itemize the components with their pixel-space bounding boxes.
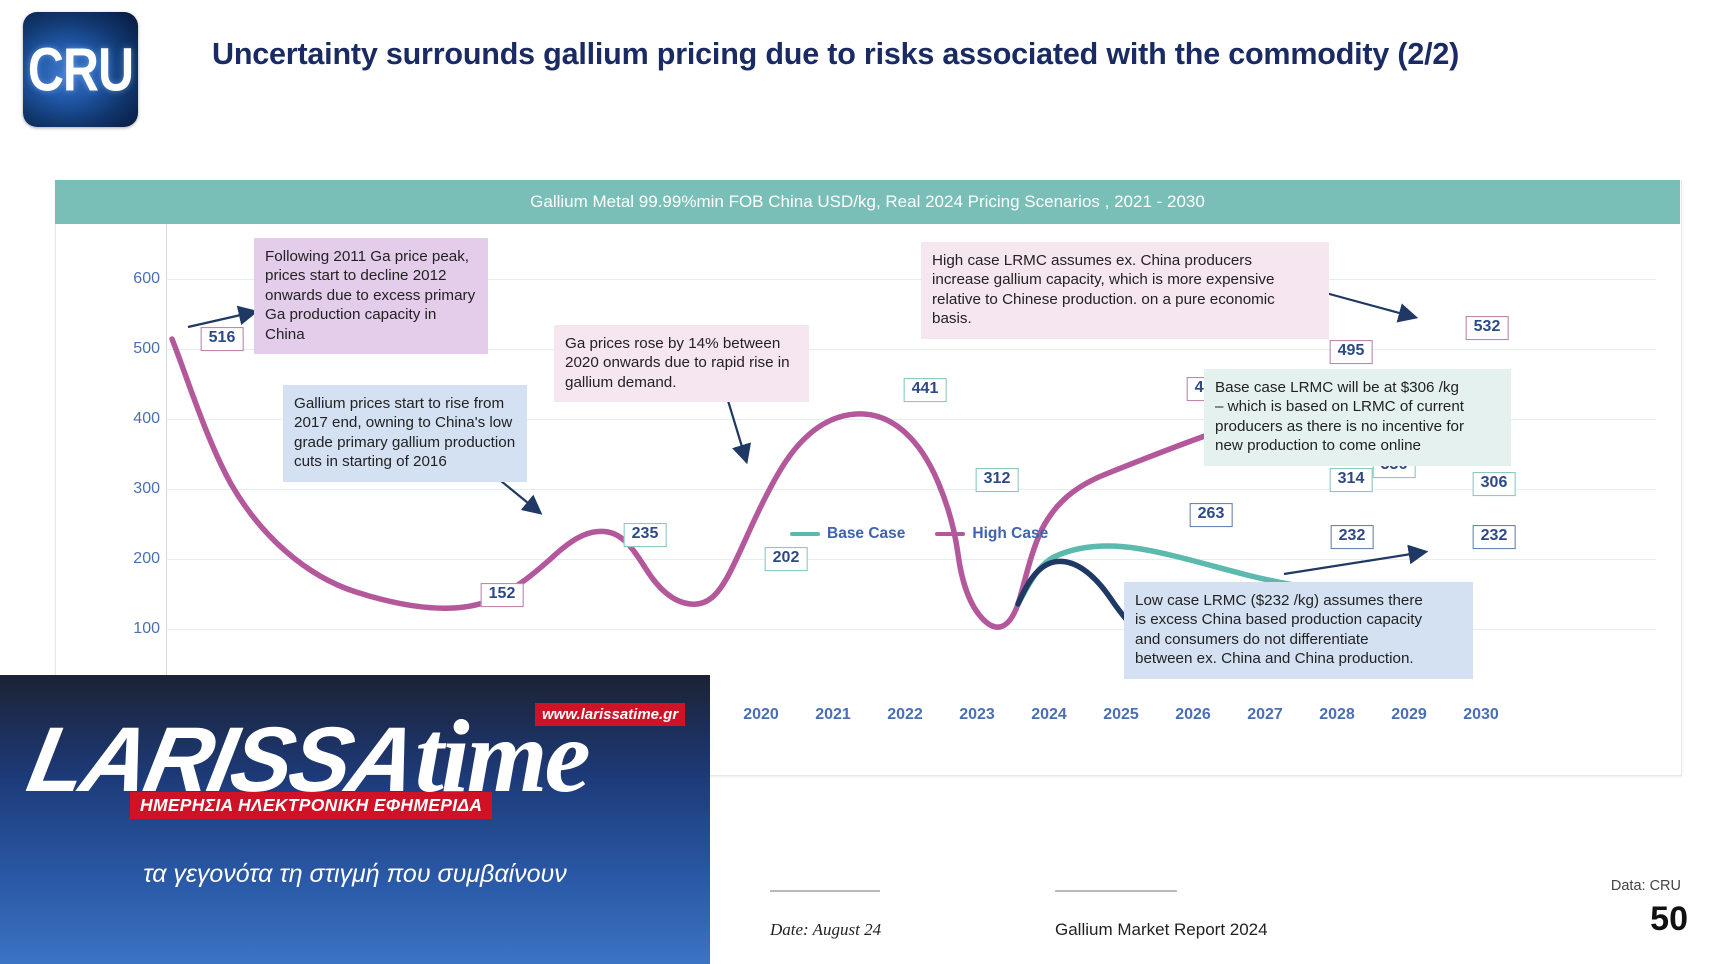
data-label-312: 312 — [976, 468, 1019, 492]
page-number: 50 — [1650, 900, 1688, 939]
chart-legend: Base Case High Case — [790, 525, 1048, 543]
data-label-235: 235 — [624, 523, 667, 547]
data-label-306: 306 — [1473, 472, 1516, 496]
leader-decline — [188, 312, 254, 327]
chart-title: Gallium Metal 99.99%min FOB China USD/kg… — [55, 180, 1680, 224]
callout-base-lrmc: Base case LRMC will be at $306 /kg – whi… — [1204, 369, 1511, 466]
data-label-232-2030: 232 — [1473, 525, 1516, 549]
watermark-tagline: τα γεγονότα τη στιγμή που συμβαίνουν — [0, 860, 710, 889]
footer-rule-right — [1055, 890, 1177, 892]
callout-demand: Ga prices rose by 14% between 2020 onwar… — [554, 325, 809, 402]
legend-label-high-case: High Case — [972, 525, 1048, 543]
callout-rise-2017: Gallium prices start to rise from 2017 e… — [283, 385, 527, 482]
data-source-label: Data: CRU — [1611, 878, 1681, 894]
data-label-532: 532 — [1466, 316, 1509, 340]
legend-swatch-high-case — [935, 532, 965, 536]
cru-logo: CRU — [23, 12, 138, 127]
footer-rule-left — [770, 890, 880, 892]
page-title: Uncertainty surrounds gallium pricing du… — [212, 35, 1512, 75]
slide-header: CRU Uncertainty surrounds gallium pricin… — [0, 0, 1736, 150]
data-label-495: 495 — [1330, 340, 1373, 364]
legend-swatch-base-case — [790, 532, 820, 536]
legend-label-base-case: Base Case — [827, 525, 905, 543]
data-label-516: 516 — [201, 327, 244, 351]
data-label-263: 263 — [1190, 503, 1233, 527]
footer-date: Date: August 24 — [770, 920, 881, 940]
legend-item-base-case[interactable]: Base Case — [790, 525, 905, 543]
watermark-subtitle: ΗΜΕΡΗΣΙΑ ΗΛΕΚΤΡΟΝΙΚΗ ΕΦΗΜΕΡΙΔΑ — [130, 792, 492, 819]
footer-report-name: Gallium Market Report 2024 — [1055, 920, 1268, 940]
callout-low-lrmc: Low case LRMC ($232 /kg) assumes there i… — [1124, 582, 1473, 679]
leader-low-lrmc — [1284, 552, 1424, 574]
watermark-logo: LARISSAtime — [30, 705, 680, 845]
data-label-152: 152 — [481, 583, 524, 607]
data-label-314: 314 — [1330, 468, 1373, 492]
callout-decline: Following 2011 Ga price peak, prices sta… — [254, 238, 488, 354]
data-label-441: 441 — [904, 378, 947, 402]
legend-item-high-case[interactable]: High Case — [935, 525, 1048, 543]
data-label-232-2029: 232 — [1331, 525, 1374, 549]
cru-logo-text: CRU — [28, 34, 133, 105]
callout-high-lrmc: High case LRMC assumes ex. China produce… — [921, 242, 1329, 339]
larissatime-watermark: LARISSAtime www.larissatime.gr ΗΜΕΡΗΣΙΑ … — [0, 675, 710, 964]
watermark-url[interactable]: www.larissatime.gr — [535, 703, 685, 726]
data-label-202: 202 — [765, 547, 808, 571]
